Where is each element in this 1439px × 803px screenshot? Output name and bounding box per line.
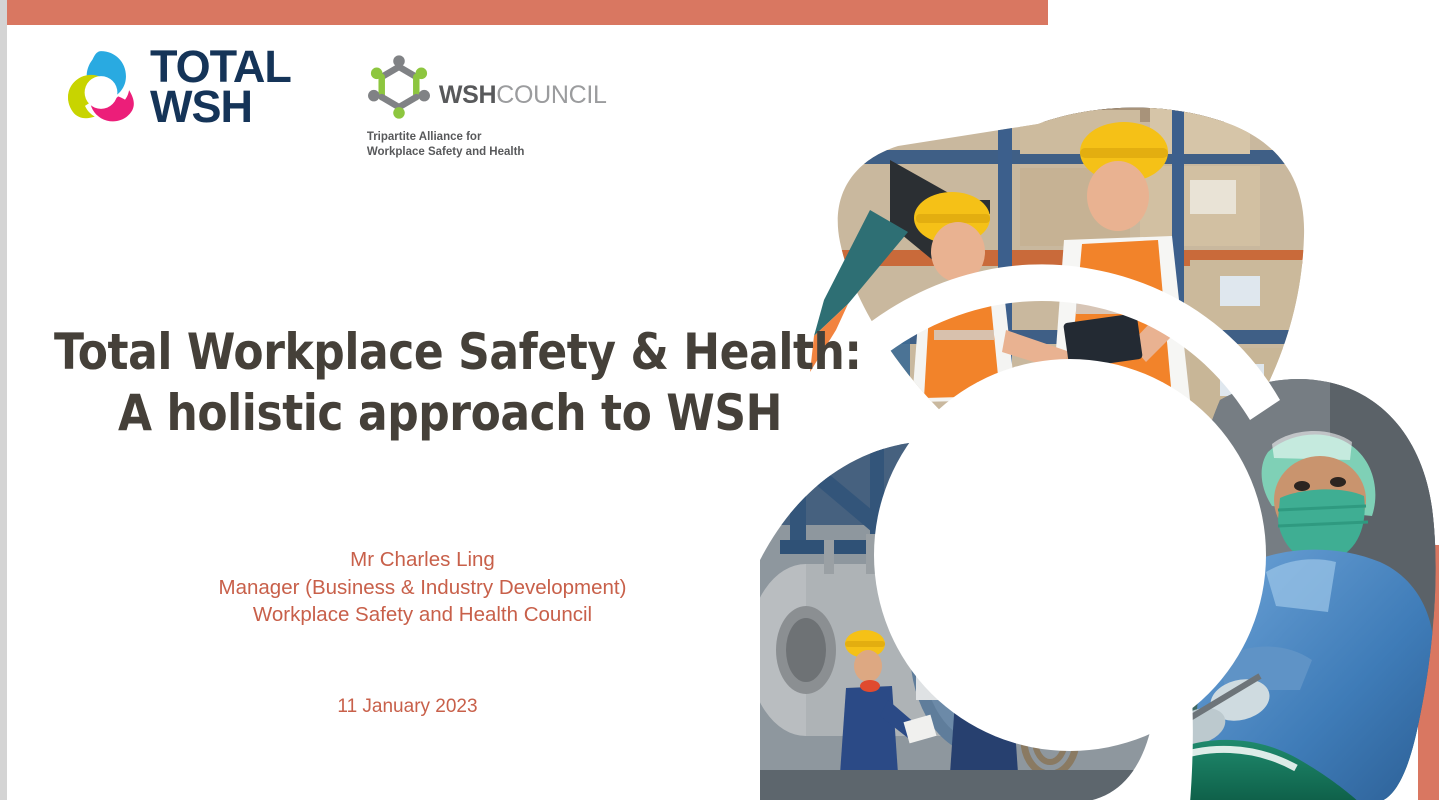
presenter-role: Manager (Business & Industry Development… [0, 574, 845, 602]
wsh-council-word-bold: WSH [439, 81, 496, 109]
white-circle-knockout [874, 359, 1266, 751]
viewer-frame-left-edge [0, 0, 7, 803]
wsh-council-logo: WSHCOUNCIL Tripartite Alliance for Workp… [363, 47, 607, 159]
presenter-info: Mr Charles Ling Manager (Business & Indu… [0, 546, 845, 629]
slide-title-line1: Total Workplace Safety & Health: [54, 322, 846, 383]
total-wsh-logo: TOTAL WSH [62, 47, 291, 126]
presentation-date: 11 January 2023 [0, 696, 815, 718]
presenter-name: Mr Charles Ling [0, 546, 845, 574]
wsh-council-tagline-line2: Workplace Safety and Health [367, 145, 607, 160]
slide-title: Total Workplace Safety & Health: A holis… [54, 322, 846, 444]
wsh-council-tagline: Tripartite Alliance for Workplace Safety… [367, 130, 607, 159]
wsh-council-wordmark: WSHCOUNCIL [439, 81, 607, 110]
total-wsh-wordmark: TOTAL WSH [150, 47, 291, 126]
logo-row: TOTAL WSH [62, 47, 607, 159]
slide-title-line2: A holistic approach to WSH [54, 383, 846, 444]
presenter-organisation: Workplace Safety and Health Council [0, 601, 845, 629]
wsh-council-word-light: COUNCIL [496, 81, 606, 109]
wsh-council-hexagon-icon [363, 51, 435, 123]
title-slide: TOTAL WSH [0, 0, 1439, 803]
wsh-council-tagline-line1: Tripartite Alliance for [367, 130, 607, 145]
total-wsh-word-bottom: WSH [150, 87, 291, 127]
total-wsh-mark-icon [62, 48, 140, 126]
